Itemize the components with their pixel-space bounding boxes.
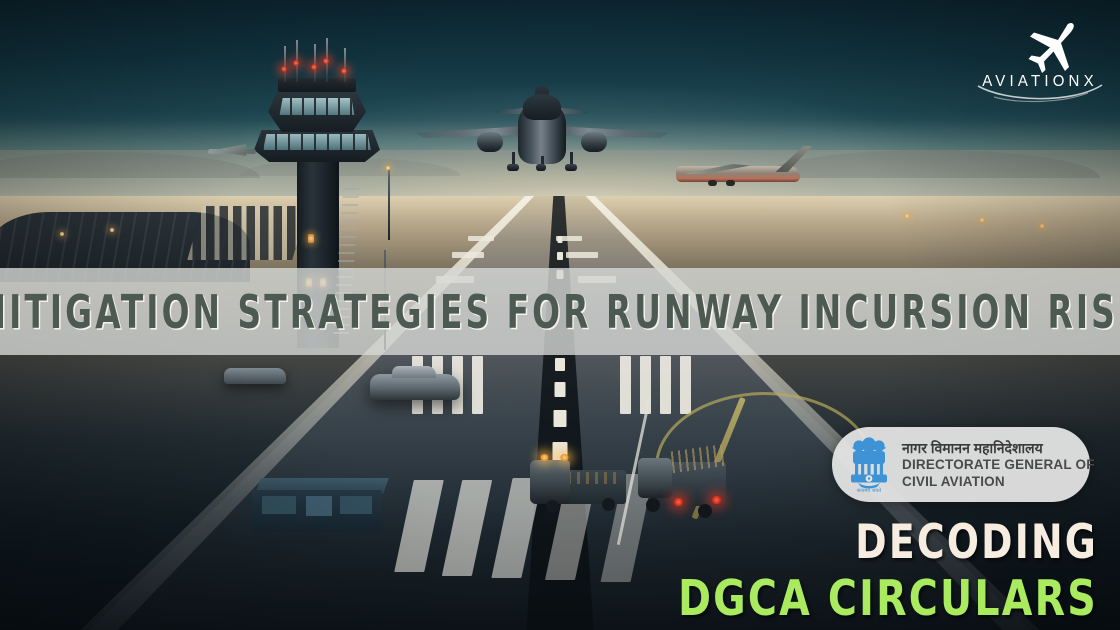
touchdown-zone-marking [566,252,598,258]
apron-light [980,218,984,222]
parked-aircraft-wheel [708,180,717,186]
aircraft-right-wing [557,126,669,138]
aircraft-nose-gear-wheel [536,164,546,171]
utility-truck-cab [638,458,672,498]
aircraft-right-engine [581,132,607,152]
service-pickup-cab [392,366,436,378]
dgca-text-block: नागर विमानन महानिदेशालय DIRECTORATE GENE… [902,440,1095,490]
aircraft-left-stabilizer [495,108,523,114]
aircraft-landing-gear-wheel [565,164,577,171]
centerline-dash [557,252,563,260]
touchdown-zone-marking [556,236,582,241]
tower-lower-mullions [262,134,372,150]
tower-beacon-light [341,68,347,74]
distant-aircraft-wing [220,144,246,156]
ground-service-truck-flatbed [530,448,626,520]
parked-aircraft-wheel [726,180,735,186]
threshold-stripe [680,356,691,414]
centerline-dash [555,358,565,371]
distant-aircraft [200,144,264,158]
dgca-hindi-name: नागर विमानन महानिदेशालय [902,440,1095,456]
truck-wheel [546,500,559,513]
threshold-stripe [660,356,671,414]
dgca-english-line2: CIVIL AVIATION [902,474,1095,490]
shed-window [340,496,372,514]
shed-window [262,496,296,514]
threshold-stripe [620,356,631,414]
tower-beacon-light [281,66,287,72]
apron-light [905,214,909,218]
title-banner: MITIGATION STRATEGIES FOR RUNWAY INCURSI… [0,268,1120,355]
apron-light [386,166,390,170]
tower-lit-window [308,234,314,243]
touchdown-zone-marking [452,252,484,258]
tower-beacon-light [311,64,317,70]
aircraft-right-stabilizer [561,108,589,114]
touchdown-zone-marking [468,236,494,241]
truck-amber-beacon [560,454,569,461]
ashoka-lion-capital-emblem-icon: सत्यमेव जयते [846,436,892,494]
truck-amber-beacon [540,454,549,461]
truck-tail-light [674,498,683,506]
utility-truck-wheel [646,498,660,512]
series-headline: DECODING DGCA CIRCULARS [678,524,1098,624]
tower-upper-mullions [278,98,356,115]
headline-line-decoding: DECODING [678,519,1098,566]
airplane-icon [1020,22,1084,74]
apron-light [110,228,114,232]
shed-window [306,496,332,516]
truck-tail-light [712,496,721,504]
utility-truck-wheel [698,504,712,518]
tower-beacon-light [323,58,329,64]
svg-text:सत्यमेव जयते: सत्यमेव जयते [857,487,881,494]
aircraft-left-engine [477,132,503,152]
service-car [224,368,286,384]
ground-service-truck-utility [636,440,728,526]
page-title: MITIGATION STRATEGIES FOR RUNWAY INCURSI… [0,285,1120,339]
threshold-stripe [472,356,483,414]
aircraft-left-wing [415,126,527,138]
dgca-english-line1: DIRECTORATE GENERAL OF [902,457,1095,473]
apron-light [60,232,64,236]
poster-canvas: MITIGATION STRATEGIES FOR RUNWAY INCURSI… [0,0,1120,630]
brand-logo[interactable]: AVIATIONX [976,22,1104,104]
swoosh-icon [976,82,1104,104]
parked-aircraft [666,146,826,202]
light-pole [388,170,390,240]
departing-aircraft [415,86,670,186]
truck-wheel [602,498,615,511]
aircraft-landing-gear-wheel [507,164,519,171]
aircraft-nose [523,94,561,120]
centerline-dash [555,382,566,397]
truck-cargo-rails [568,472,622,484]
centerline-dash [554,410,567,427]
truck-cab [530,460,570,504]
tower-antenna-mast [284,46,286,82]
headline-line-dgca-circulars: DGCA CIRCULARS [678,575,1098,624]
tower-antenna-mast [314,44,316,82]
tower-antenna-mast [344,48,346,82]
tower-beacon-light [293,60,299,66]
dgca-badge[interactable]: सत्यमेव जयते नागर विमानन महानिदेशालय DIR… [832,427,1090,502]
apron-light [1040,224,1044,228]
